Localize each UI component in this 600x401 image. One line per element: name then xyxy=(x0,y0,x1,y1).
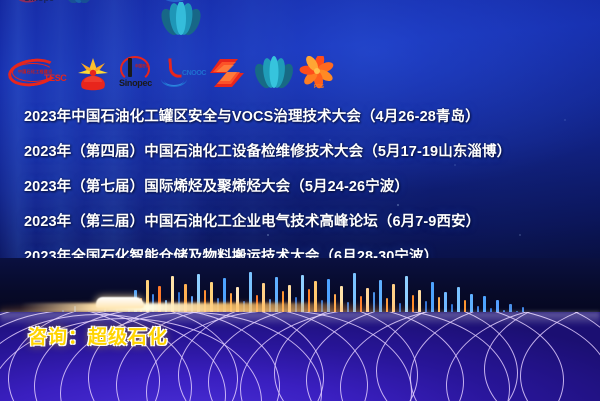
top-lotus-logo xyxy=(158,2,204,41)
tesc-logo: 中国石化工程建设 TESC xyxy=(8,56,70,90)
cnooc-abbr-text: CNOOC xyxy=(182,70,206,77)
cnpc-sunflower-icon xyxy=(74,55,112,91)
sinopec-bar-icon xyxy=(128,58,132,77)
light-trail-vehicle xyxy=(96,297,144,308)
diamond-logo xyxy=(208,57,250,89)
ghost-logo-row: Sinopec xyxy=(0,0,600,8)
conference-title-list: 2023年中国石油化工罐区安全与VOCS治理技术大会（4月26-28青岛） 20… xyxy=(24,100,584,275)
conference-line-4: 2023年（第三届）中国石油化工企业电气技术高峰论坛（6月7-9西安） xyxy=(24,205,584,240)
light-streak xyxy=(20,303,350,312)
conference-line-2: 2023年（第四届）中国石油化工设备检维修技术大会（5月17-19山东淄博） xyxy=(24,135,584,170)
cnpc-logo xyxy=(74,55,112,91)
contact-text: 咨询：超级石化 xyxy=(28,322,168,349)
sinopec-cn-text: 中国石化 xyxy=(135,64,149,69)
sinopec-logo: 中国石化 Sinopec xyxy=(116,55,156,91)
sinopec-abbr-text: Sinopec xyxy=(119,78,152,88)
ghost-sinopec-icon: Sinopec xyxy=(14,0,54,3)
lotus-logo xyxy=(254,56,294,90)
teal-lotus-icon xyxy=(254,56,294,90)
pinwheel-abbr-text: PDS xyxy=(314,84,324,90)
tesc-abbr-text: TESC xyxy=(44,73,66,83)
sponsor-logo-strip: 中国石化工程建设 TESC 中国石化 Sinopec xyxy=(8,54,318,92)
ghost-lotus-icon xyxy=(62,0,96,3)
cnooc-logo: CNOOC xyxy=(160,56,204,90)
red-diamond-icon xyxy=(208,57,250,89)
conference-line-3: 2023年（第七届）国际烯烃及聚烯烃大会（5月24-26宁波） xyxy=(24,170,584,205)
pinwheel-logo: PDS xyxy=(298,56,338,90)
conference-line-1: 2023年中国石油化工罐区安全与VOCS治理技术大会（4月26-28青岛） xyxy=(24,100,584,135)
svg-text:Sinopec: Sinopec xyxy=(24,0,54,3)
conference-promo-banner: Sinopec 中国石化工 xyxy=(0,0,600,401)
